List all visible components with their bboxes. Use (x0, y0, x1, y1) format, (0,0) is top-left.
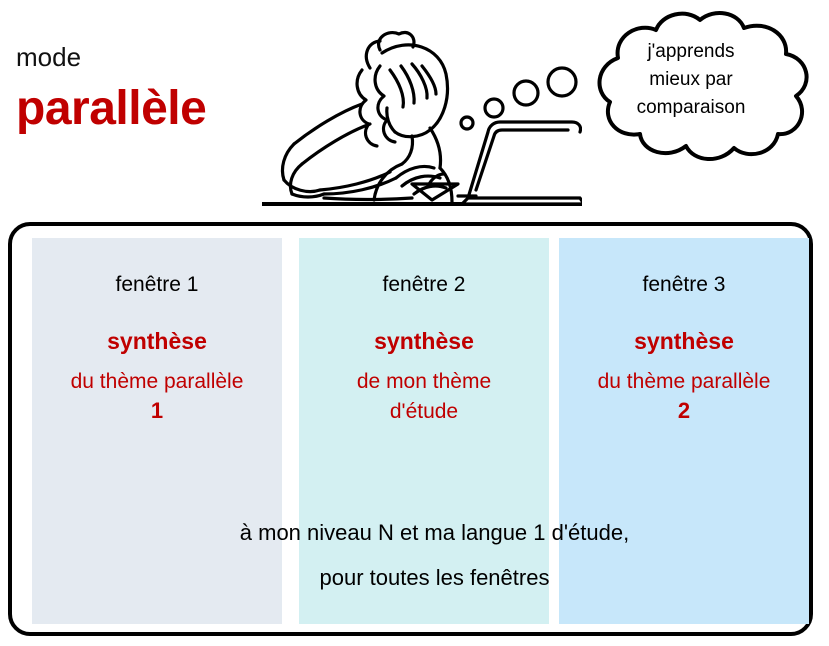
windows-panel: fenêtre 1 synthèse du thème parallèle 1 … (8, 222, 813, 636)
window-1-synthese-label: synthèse (32, 327, 282, 355)
window-column-1-content: fenêtre 1 synthèse du thème parallèle 1 (32, 272, 282, 425)
window-3-number: 2 (559, 397, 809, 425)
windows-columns: fenêtre 1 synthèse du thème parallèle 1 … (32, 238, 797, 624)
thought-bubble: j'apprends mieux par comparaison (556, 6, 826, 166)
window-1-description: du thème parallèle (32, 367, 282, 397)
window-1-title: fenêtre 1 (32, 272, 282, 298)
window-1-number: 1 (32, 397, 282, 425)
bubble-line-3: comparaison (600, 94, 782, 122)
bubble-line-1: j'apprends (600, 38, 782, 66)
window-2-description: de mon thème d'étude (299, 367, 549, 427)
window-column-3-content: fenêtre 3 synthèse du thème parallèle 2 (559, 272, 809, 425)
bubble-line-2: mieux par (600, 66, 782, 94)
person-at-laptop-icon (262, 8, 582, 222)
window-3-description: du thème parallèle (559, 367, 809, 397)
window-column-2[interactable]: fenêtre 2 synthèse de mon thème d'étude (299, 238, 549, 624)
window-column-3[interactable]: fenêtre 3 synthèse du thème parallèle 2 (559, 238, 809, 624)
window-3-title: fenêtre 3 (559, 272, 809, 298)
header-area: mode parallèle (0, 0, 829, 222)
window-column-2-content: fenêtre 2 synthèse de mon thème d'étude (299, 272, 549, 427)
window-column-1[interactable]: fenêtre 1 synthèse du thème parallèle 1 (32, 238, 282, 624)
window-2-title: fenêtre 2 (299, 272, 549, 298)
window-2-synthese-label: synthèse (299, 327, 549, 355)
window-3-synthese-label: synthèse (559, 327, 809, 355)
thought-bubble-text: j'apprends mieux par comparaison (600, 38, 782, 122)
